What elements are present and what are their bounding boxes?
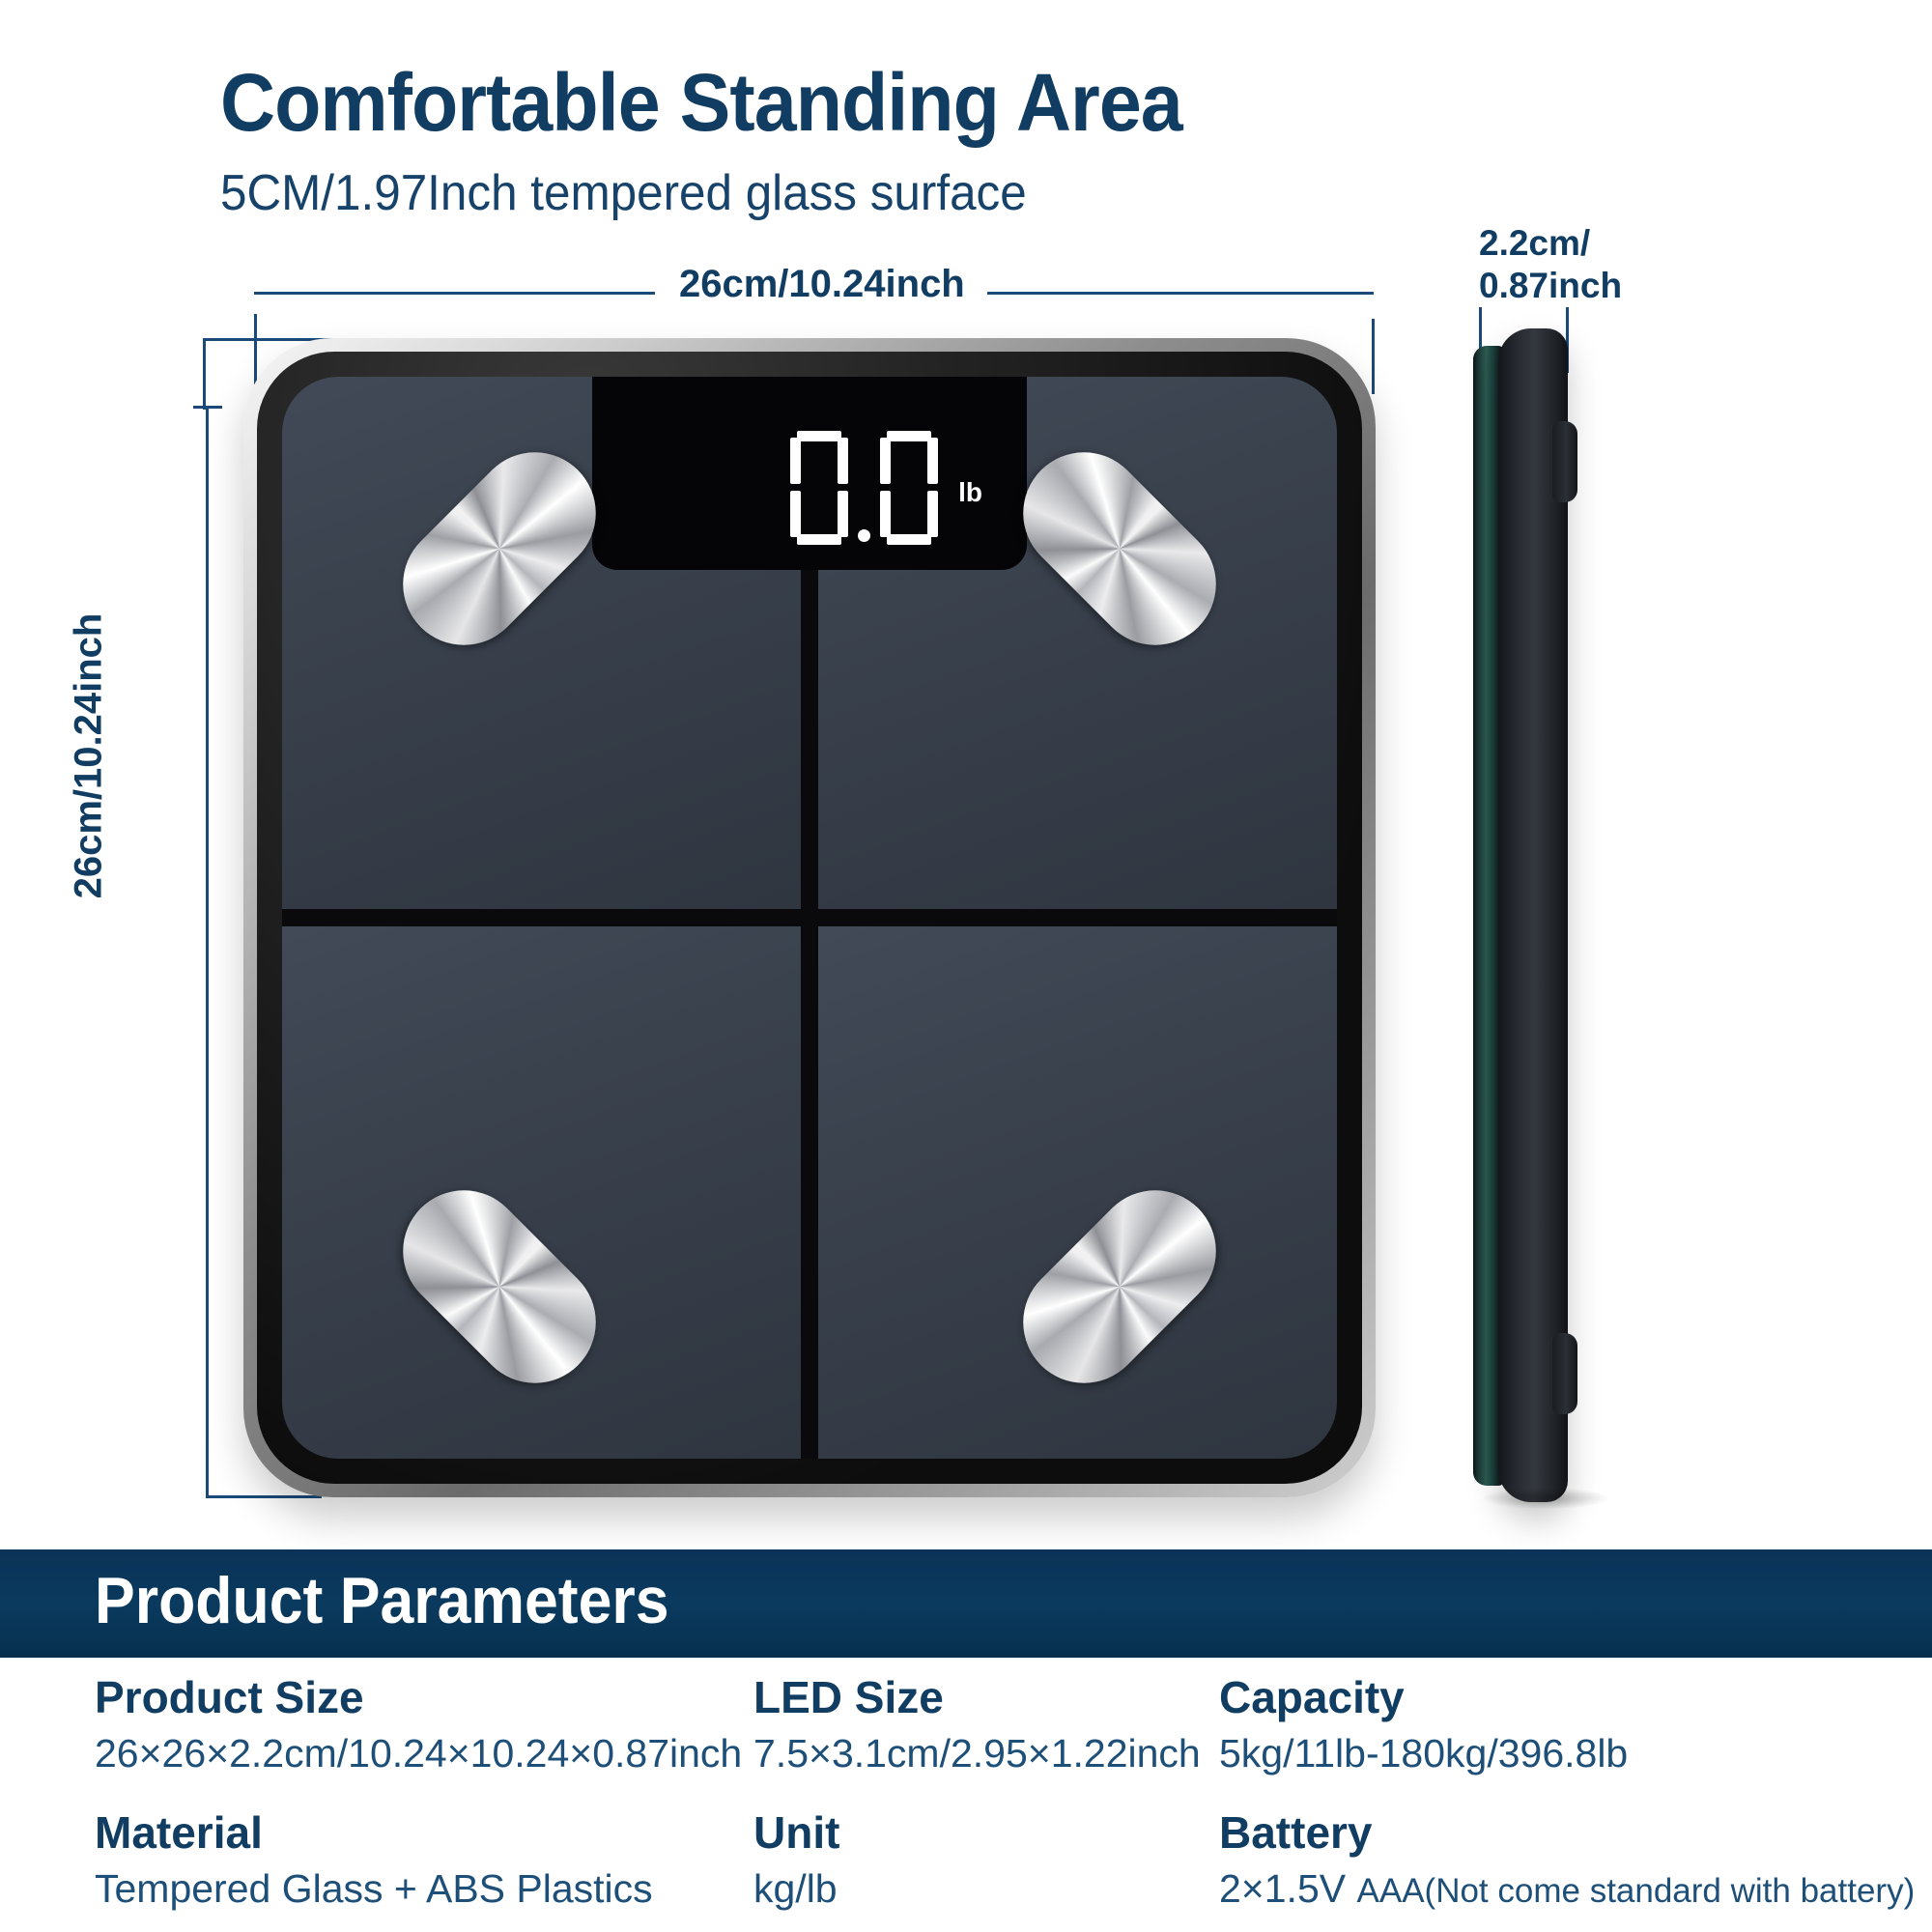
page-subtitle: 5CM/1.97Inch tempered glass surface: [220, 164, 1027, 222]
seg-b: [838, 438, 848, 484]
height-dimension-label: 26cm/10.24inch: [68, 486, 111, 1027]
led-decimal-point: [858, 529, 870, 542]
top-dimension-line-right: [987, 292, 1374, 295]
seg-f: [880, 438, 891, 484]
seg-c: [927, 491, 938, 537]
thickness-label-line1: 2.2cm/: [1479, 223, 1590, 263]
top-dimension-tick-right: [1372, 319, 1375, 394]
param-value-led-size: 7.5×3.1cm/2.95×1.22inch: [753, 1731, 1201, 1776]
scale-bezel: lb: [257, 352, 1362, 1484]
param-unit: Unit kg/lb: [753, 1806, 839, 1912]
param-value-material: Tempered Glass + ABS Plastics: [95, 1866, 653, 1912]
side-abs-body: [1498, 328, 1568, 1502]
led-display-window: lb: [592, 377, 1027, 570]
param-label-unit: Unit: [753, 1806, 839, 1859]
seg-e: [790, 491, 801, 537]
param-label-led-size: LED Size: [753, 1671, 1201, 1723]
width-dimension-label: 26cm/10.24inch: [679, 263, 965, 306]
seg-b: [927, 438, 938, 484]
param-product-size: Product Size 26×26×2.2cm/10.24×10.24×0.8…: [95, 1671, 742, 1776]
side-view-shadow: [1483, 1488, 1608, 1509]
param-value-battery-main: 2×1.5V: [1219, 1866, 1346, 1911]
param-label-battery: Battery: [1219, 1806, 1915, 1859]
height-dimension-cap-top: [193, 406, 222, 409]
param-value-battery-sub: AAA(Not come standard with battery): [1357, 1872, 1916, 1910]
thickness-dimension-label: 2.2cm/ 0.87inch: [1479, 222, 1622, 307]
seg-d: [887, 534, 931, 545]
param-value-unit: kg/lb: [753, 1866, 839, 1912]
param-value-capacity: 5kg/11lb-180kg/396.8lb: [1219, 1731, 1628, 1776]
height-dimension-cap-bottom: [206, 1495, 322, 1498]
led-digit-group: [786, 431, 942, 545]
seg-a: [797, 431, 841, 441]
param-label-capacity: Capacity: [1219, 1671, 1628, 1723]
scale-glass-surface: lb: [282, 377, 1337, 1459]
seg-d: [797, 534, 841, 545]
thickness-label-line2: 0.87inch: [1479, 266, 1622, 305]
led-digit-tenths: [876, 431, 942, 545]
seg-f: [790, 438, 801, 484]
page-header: Comfortable Standing Area 5CM/1.97Inch t…: [0, 0, 1932, 241]
bathroom-scale-side-view: [1473, 328, 1575, 1502]
param-label-material: Material: [95, 1806, 653, 1859]
param-label-product-size: Product Size: [95, 1671, 742, 1723]
corner-crosshair-vertical: [203, 340, 206, 410]
seg-a: [887, 431, 931, 441]
side-foot-bottom: [1552, 1333, 1577, 1414]
product-parameters-grid: Product Size 26×26×2.2cm/10.24×10.24×0.8…: [0, 1671, 1932, 1932]
seg-c: [838, 491, 848, 537]
led-digit-ones: [786, 431, 852, 545]
height-dimension-line: [206, 406, 209, 1497]
product-parameters-banner: Product Parameters: [0, 1549, 1932, 1658]
side-foot-top: [1552, 421, 1577, 502]
product-parameters-title: Product Parameters: [95, 1563, 669, 1638]
led-unit-label: lb: [958, 477, 982, 508]
page-title: Comfortable Standing Area: [220, 56, 1182, 150]
param-value-product-size: 26×26×2.2cm/10.24×10.24×0.87inch: [95, 1731, 742, 1776]
param-led-size: LED Size 7.5×3.1cm/2.95×1.22inch: [753, 1671, 1201, 1776]
param-material: Material Tempered Glass + ABS Plastics: [95, 1806, 653, 1912]
param-value-battery: 2×1.5V AAA(Not come standard with batter…: [1219, 1866, 1915, 1912]
seg-e: [880, 491, 891, 537]
param-battery: Battery 2×1.5V AAA(Not come standard wit…: [1219, 1806, 1915, 1912]
top-dimension-line-left: [254, 292, 655, 295]
bathroom-scale-top-view: lb: [243, 338, 1376, 1497]
param-capacity: Capacity 5kg/11lb-180kg/396.8lb: [1219, 1671, 1628, 1776]
